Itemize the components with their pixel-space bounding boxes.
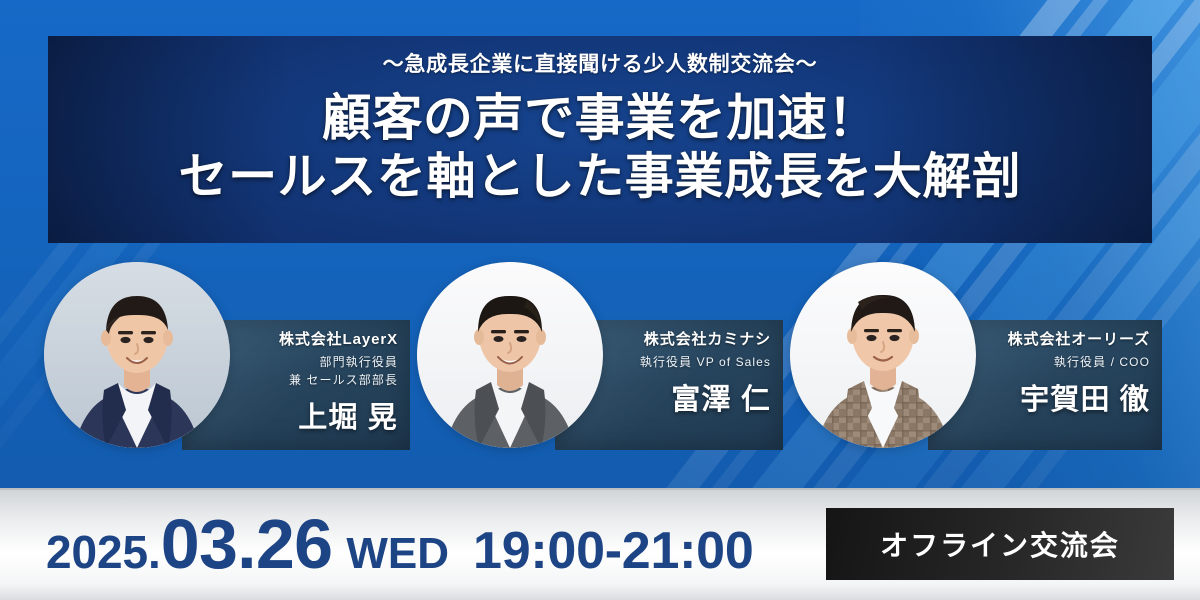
date-month-day: 03.26 [161,504,333,584]
speaker-card-3: 株式会社オーリーズ 執行役員 / COO 宇賀田 徹 [790,262,1162,467]
event-format-badge: オフライン交流会 [826,508,1174,580]
event-kicker: 〜急成長企業に直接聞ける少人数制交流会〜 [48,52,1152,77]
event-time-range: 19:00-21:00 [473,521,753,581]
speaker-photo-2 [417,262,603,448]
footer-bar: 2025 . 03.26 WED 19:00-21:00 オフライン交流会 [0,488,1200,600]
event-datetime: 2025 . 03.26 WED 19:00-21:00 [46,504,754,584]
event-title-line-1: 顧客の声で事業を加速！ [48,89,1152,147]
speaker-card-1: 株式会社LayerX 部門執行役員 兼 セールス部部長 上堀 晃 [44,262,410,467]
speaker-photo-1 [44,262,230,448]
date-day-of-week: WED [346,529,449,579]
speakers-row: 株式会社LayerX 部門執行役員 兼 セールス部部長 上堀 晃 [0,262,1200,472]
speaker-name-1: 上堀 晃 [190,394,398,436]
title-panel: 〜急成長企業に直接聞ける少人数制交流会〜 顧客の声で事業を加速！ セールスを軸と… [48,36,1152,243]
date-separator-dot: . [148,525,161,579]
speaker-card-2: 株式会社カミナシ 執行役員 VP of Sales 富澤 仁 [417,262,783,467]
event-title-line-2: セールスを軸とした事業成長を大解剖 [48,149,1152,206]
footer-top-rule [0,488,1200,490]
event-format-badge-label: オフライン交流会 [880,524,1120,564]
speaker-photo-3 [790,262,976,448]
event-banner: 〜急成長企業に直接聞ける少人数制交流会〜 顧客の声で事業を加速！ セールスを軸と… [0,0,1200,600]
date-year: 2025 [46,525,148,579]
